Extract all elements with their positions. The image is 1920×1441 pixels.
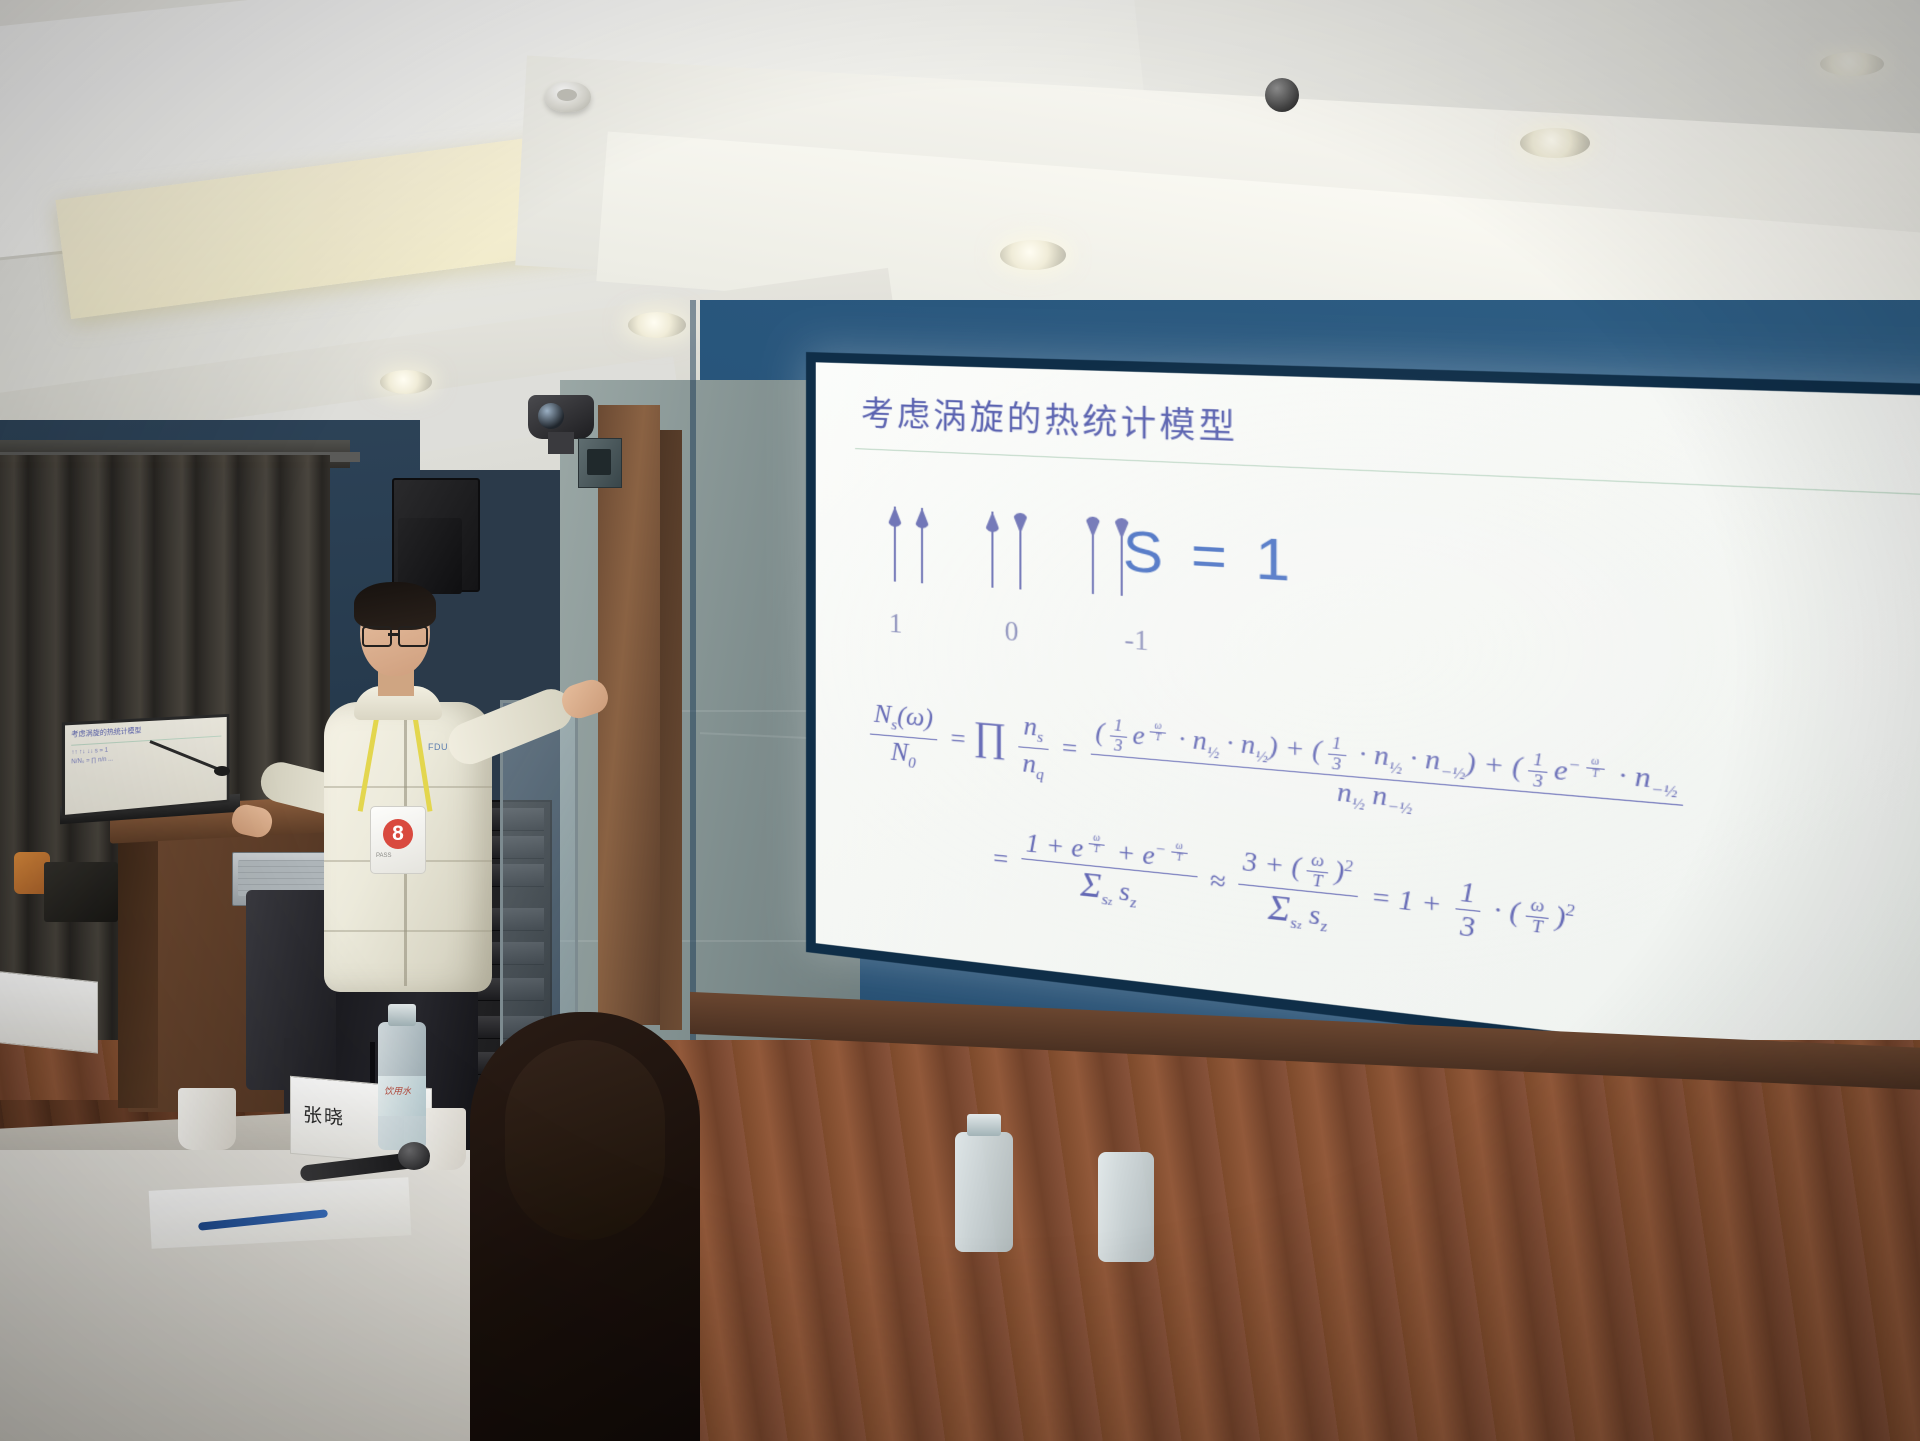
water-bottle	[955, 1132, 1013, 1252]
arrow-up-icon	[914, 508, 931, 584]
glasses-bridge	[388, 633, 398, 636]
spin-number: -1	[1124, 623, 1148, 657]
desk-object-dark	[44, 862, 118, 922]
smoke-detector-icon	[545, 82, 591, 112]
wood-column-edge	[660, 430, 682, 1030]
ceiling-camera-icon	[1265, 78, 1299, 112]
presenter-badge: 8 PASS	[370, 806, 426, 874]
jacket-brand-label: FDU	[428, 742, 448, 752]
microphone-icon	[214, 766, 230, 776]
presenter-hair	[354, 582, 436, 630]
slide-title-rule	[855, 448, 1920, 501]
glasses-right-lens-icon	[398, 626, 428, 647]
laptop-screen: 考虑涡旋的热统计模型 ↑↑ ↑↓ ↓↓ s = 1 N/N₀ = ∏ n/n .…	[62, 714, 230, 818]
spin-number-row: 1 0 -1	[889, 608, 1149, 658]
glasses-left-lens-icon	[362, 626, 392, 647]
badge-number: 8	[383, 819, 413, 849]
wall-control-box	[578, 438, 622, 488]
camera-lens-icon	[538, 403, 564, 429]
photo-scene: 考虑涡旋的热统计模型 S = 1 1 0	[0, 0, 1920, 1441]
spin-number: 1	[889, 608, 903, 640]
paper-cup	[178, 1088, 236, 1150]
badge-caption: PASS	[376, 853, 392, 859]
downlight-icon	[1520, 128, 1590, 158]
arrow-up-icon	[984, 511, 1002, 588]
lectern-side	[118, 828, 158, 1108]
downlight-icon	[1820, 52, 1884, 76]
water-bottle	[1098, 1152, 1154, 1262]
water-bottle-label: 饮用水	[378, 1076, 426, 1116]
arrow-up-icon	[887, 506, 904, 582]
spin-number: 0	[1005, 615, 1019, 648]
downlight-icon	[380, 370, 432, 394]
nameplate-left	[0, 970, 98, 1053]
microphone-head-icon	[398, 1142, 430, 1170]
presenter-right-arm	[442, 683, 578, 771]
spin-arrow-group	[887, 506, 1131, 596]
downlight-icon	[628, 312, 686, 338]
water-bottle-cap	[967, 1114, 1001, 1136]
spin-state-up-down	[984, 511, 1030, 590]
arrow-down-icon	[1012, 513, 1030, 590]
arrow-down-icon	[1084, 516, 1102, 594]
slide-title: 考虑涡旋的热统计模型	[861, 386, 1238, 450]
spin-state-up-up	[887, 506, 931, 584]
wood-column	[598, 405, 660, 1025]
camera-mount	[548, 432, 574, 454]
bottle-label-text: 饮用水	[384, 1084, 411, 1097]
spin-quantum-label: S = 1	[1123, 516, 1296, 595]
audience-head-highlight	[505, 1040, 665, 1240]
downlight-icon	[1000, 240, 1066, 270]
water-bottle-cap	[388, 1004, 416, 1026]
